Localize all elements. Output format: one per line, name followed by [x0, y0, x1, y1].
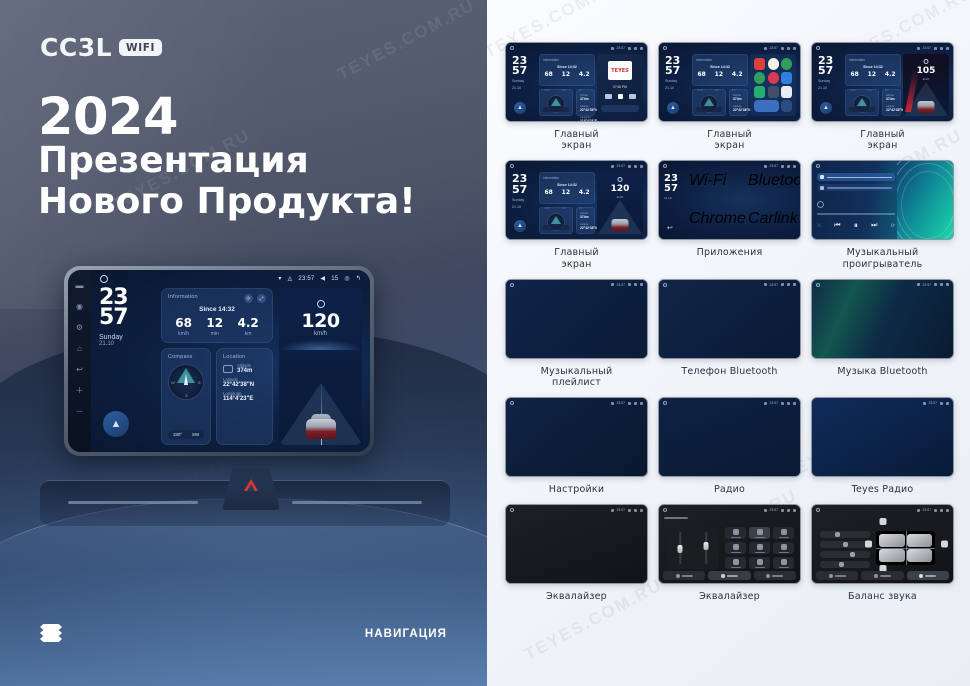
screenshot-grid-panel: TEYES.COM.RU TEYES.COM.RU TEYES.COM.RU T… — [487, 0, 970, 686]
app-icon-bluetooth[interactable]: Bluetooth — [748, 172, 801, 208]
app-shortcut-icon[interactable] — [754, 72, 765, 84]
app-drawer[interactable]: Wi-Fi Bluetooth Bluetooth Music Calculat… — [689, 172, 795, 234]
information-since: Since 14:32 — [693, 65, 747, 69]
preset-pad[interactable] — [773, 542, 794, 554]
trip-stat: 4.2 km — [238, 317, 259, 337]
stat-unit: km/h — [175, 331, 192, 337]
preset-pad[interactable] — [773, 527, 794, 539]
settings-icon[interactable]: ⚙ — [76, 324, 83, 332]
hardware-button-rail[interactable]: ▬ ◉ ⚙ ⌂ ↩ ＋ － — [68, 270, 91, 452]
altitude-value: 374m — [237, 368, 252, 374]
grid-cell[interactable]: 23:57 — [811, 504, 954, 602]
status-bar: 23:57 — [611, 401, 644, 405]
status-time: 23:57 — [298, 276, 314, 282]
screenshot-equalizer[interactable]: 23:57 — [505, 504, 648, 584]
stat-value: 12 — [562, 190, 570, 196]
drive-view-card[interactable]: 120 km/h — [279, 288, 362, 445]
latitude-value: 22°42'38"N — [886, 108, 900, 112]
location-card[interactable]: Altitude 374m Latitude 22°42'38"N Longit… — [576, 89, 595, 116]
volume-level: 15 — [331, 276, 338, 282]
app-shortcut-icon[interactable] — [768, 58, 779, 70]
compass-readout: 180° SW — [168, 430, 204, 439]
sound-faders[interactable] — [667, 527, 719, 569]
stat-value: 4.2 — [579, 190, 590, 196]
hero-panel: TEYES.COM.RU TEYES.COM.RU TEYES.COM.RU C… — [0, 0, 487, 686]
status-bar: 23:57 — [764, 401, 797, 405]
screenshot-apps[interactable]: 23:57 23 57 21.10 ↩ Wi-Fi Bluetooth Blue… — [658, 160, 801, 240]
screen-home-icon[interactable] — [100, 275, 108, 283]
compass-mark-e: E — [198, 380, 201, 385]
compass-needle-icon — [184, 374, 188, 385]
location-card[interactable]: Altitude 374m Latitude 22°42'38"N — [729, 89, 748, 116]
volume-down-icon[interactable]: － — [76, 408, 84, 416]
stat-value: 4.2 — [732, 72, 743, 78]
screenshot-home-player[interactable]: 23:57 23 57 Sunday 21.10 ▲ Information S… — [505, 42, 648, 122]
speed-unit: km/h — [597, 195, 643, 199]
car-graphic — [918, 101, 935, 113]
app-shortcut-icon[interactable] — [781, 86, 792, 98]
app-icon-wifi[interactable]: Wi-Fi — [689, 172, 746, 208]
clock-minutes: 57 — [664, 184, 678, 193]
logo-text: CC3L — [40, 33, 112, 62]
compass-mark-w: W — [171, 380, 175, 385]
location-card[interactable]: Altitude 374m Latitude 22°42'38"N — [576, 207, 595, 234]
track-row[interactable] — [817, 184, 895, 191]
status-time: 23:57 — [770, 401, 779, 405]
balance-left-button[interactable] — [865, 541, 872, 548]
speed-value: 120 — [597, 184, 643, 194]
app-shortcut-icon[interactable] — [754, 86, 765, 98]
compass-cone-icon — [551, 216, 561, 224]
information-since: Since 14:32 — [846, 65, 900, 69]
information-actions[interactable]: ⟳ ⤢ — [244, 294, 266, 303]
status-bar: ▾ ◬ 23:57 ◀ 15 ◎ ↰ — [278, 275, 361, 282]
stat-value: 68 — [175, 317, 192, 329]
latitude-value: 22°42'38"N — [580, 226, 594, 230]
horizon-glow — [279, 336, 362, 350]
status-bar: 23:57 — [764, 46, 797, 50]
app-shortcut-icon[interactable] — [768, 86, 779, 98]
information-since: Since 14:32 — [540, 183, 594, 187]
stat-value: 12 — [715, 72, 723, 78]
next-icon[interactable] — [629, 94, 636, 99]
longitude-value: 114°4'23"E — [223, 396, 266, 402]
status-bar: 23:57 — [917, 46, 950, 50]
power-icon[interactable]: ▬ — [76, 282, 84, 290]
preset-pad[interactable] — [725, 527, 746, 539]
clock-date: 21.10 — [664, 196, 678, 200]
screen-home-icon — [663, 283, 667, 287]
grid-cell[interactable]: 23:57 ⤫ — [811, 160, 954, 269]
information-since: Since 14:32 — [168, 306, 266, 313]
repeat-icon[interactable]: ⟳ — [891, 223, 895, 229]
clock-date: 21.10 — [512, 205, 527, 209]
gps-icon: ◎ — [344, 275, 349, 282]
trip-stat: 68 km/h — [175, 317, 192, 337]
compass-readout — [696, 107, 722, 112]
wifi-icon: ▾ — [278, 275, 281, 282]
altitude-value: 374m — [886, 97, 900, 101]
clock-widget: 23 57 Sunday 21.10 ▲ — [99, 288, 155, 445]
layers-icon — [40, 624, 62, 642]
balance-right-button[interactable] — [941, 541, 948, 548]
shuffle-icon[interactable]: ⤫ — [817, 223, 821, 229]
altitude-value: 374m — [580, 215, 594, 219]
screenshot-teyes-radio[interactable]: 23:57 TEYES — [811, 397, 954, 477]
compass-card[interactable]: Compass W E S — [161, 348, 211, 445]
speaker-rear-left[interactable] — [879, 549, 905, 562]
equalizer-tabs[interactable] — [663, 571, 796, 580]
status-time: 23:57 — [923, 46, 932, 50]
compass-mark-s: S — [185, 393, 188, 398]
screenshot-home-warning[interactable]: 23:57 23 57 Sunday 21.10 ▲ Information S… — [811, 42, 954, 122]
clock-minutes: 57 — [818, 66, 833, 76]
clock-minutes: 57 — [512, 66, 527, 76]
latitude-value: 22°42'38"N — [580, 108, 594, 112]
back-icon[interactable]: ↩ — [667, 224, 673, 232]
status-time: 23:57 — [923, 283, 932, 287]
headline-line-1: Презентация — [38, 140, 416, 181]
player-time: 07:50 PM — [601, 85, 639, 89]
preset-pad[interactable] — [773, 557, 794, 569]
clock-widget: 23 57 21.10 — [664, 174, 678, 199]
app-shortcut-icon[interactable] — [768, 72, 779, 84]
cell-caption: Teyes Радио — [852, 484, 914, 495]
visualizer — [897, 161, 953, 239]
status-time: 23:57 — [617, 164, 626, 168]
drive-view-widget[interactable]: 120 km/h — [597, 172, 643, 234]
album-art: TEYES — [608, 61, 632, 80]
compass-cone-icon — [857, 98, 867, 106]
information-card[interactable]: Information Since 14:32 68km/h 12min 4.2… — [539, 172, 595, 204]
compass-readout — [543, 107, 569, 112]
speaker-front-right[interactable] — [907, 534, 933, 547]
navigation-arrow-icon[interactable]: ▲ — [103, 411, 129, 437]
product-logo: CC3L WIFI — [40, 33, 162, 62]
logo-wifi-badge: WIFI — [119, 39, 162, 56]
clock-day: Sunday — [512, 198, 527, 202]
navigation-arrow-icon[interactable]: ▲ — [514, 102, 526, 114]
navigation-arrow-icon[interactable]: ▲ — [820, 102, 832, 114]
head-unit: ▬ ◉ ⚙ ⌂ ↩ ＋ － ▾ ◬ 23:57 — [64, 266, 374, 456]
grid-cell[interactable]: 23:57 1 2 3 — [658, 279, 801, 388]
clock-minutes: 57 — [512, 185, 527, 195]
compass-direction: SW — [192, 432, 199, 437]
speed-value: 120 — [279, 310, 362, 332]
hero-year: 2024 — [38, 88, 178, 147]
cell-caption: Телефон Bluetooth — [681, 366, 777, 377]
clock-date: 21.10 — [512, 86, 527, 90]
screenshot-home-apps[interactable]: 23:57 23 57 Sunday 21.10 ▲ Information S… — [658, 42, 801, 122]
screenshot-bluetooth-phone[interactable]: 23:57 1 2 3 — [658, 279, 801, 359]
grid-cell[interactable]: 23:57 Радио FM ‹ 102.40 › M T D L P R — [658, 397, 801, 495]
information-title: Information — [543, 176, 594, 180]
grid-cell[interactable]: 23:57 ᛒBluetooth 5.1 Feels Like Summer C… — [811, 279, 954, 388]
status-time: 23:57 — [617, 283, 626, 287]
status-time: 23:57 — [617, 401, 626, 405]
stat-value: 68 — [850, 72, 858, 78]
status-bar: 23:57 — [611, 164, 644, 168]
compass-readout — [849, 107, 875, 112]
car-graphic — [306, 409, 336, 439]
slider[interactable] — [820, 561, 870, 568]
trip-stats: 68 km/h 12 min 4.2 — [168, 317, 266, 337]
footer-label: НАВИГАЦИЯ — [365, 628, 447, 640]
location-title: Location — [223, 354, 266, 360]
now-playing-list[interactable]: ⤫ ⏮ ⏸ ⏭ ⟳ — [817, 173, 895, 208]
speaker-rear-right[interactable] — [907, 549, 933, 562]
prev-icon[interactable] — [605, 94, 612, 99]
altitude-value: 374m — [733, 97, 747, 101]
information-card[interactable]: Information Since 14:32 68km/h 12min 4.2… — [539, 54, 595, 86]
home-icon[interactable]: ⌂ — [77, 345, 82, 353]
tab-sound-field[interactable] — [861, 571, 903, 580]
equalizer-tabs[interactable] — [816, 571, 949, 580]
compass-dial: W E S — [168, 364, 204, 400]
stat-value: 4.2 — [579, 72, 590, 78]
status-bar: 23:57 — [611, 508, 644, 512]
grid-cell[interactable]: 23:57 23 57 Sunday 21.10 ▲ Information S… — [505, 42, 648, 151]
track-row-active[interactable] — [817, 173, 895, 181]
headline-line-2: Нового Продукта! — [38, 181, 416, 222]
widget-column: Information ⟳ ⤢ Since 14:32 68 — [161, 288, 273, 445]
information-card[interactable]: Information Since 14:32 68km/h 12min 4.2… — [845, 54, 901, 86]
stat-value: 68 — [544, 72, 552, 78]
speed-limit-icon — [317, 300, 325, 308]
screen-home-icon — [816, 283, 820, 287]
altitude-value: 374m — [580, 97, 594, 101]
compass-cone-icon — [704, 98, 714, 106]
preset-pad[interactable] — [749, 542, 770, 554]
information-title: Information — [543, 58, 594, 62]
screen-home-icon — [510, 46, 514, 50]
status-time: 23:57 — [929, 401, 938, 405]
screen-body: 23 57 Sunday 21.10 ▲ Information — [99, 288, 362, 445]
tab-eq[interactable] — [816, 571, 858, 580]
latitude-value: 22°42'38"N — [223, 382, 266, 388]
stat-value: 68 — [697, 72, 705, 78]
next-icon[interactable]: ⏭ — [871, 222, 877, 230]
grid-cell[interactable]: 23:57 — [658, 504, 801, 602]
screen-home-icon — [510, 283, 514, 287]
stat-unit: km — [238, 331, 259, 337]
compass-card[interactable] — [539, 89, 573, 116]
app-shortcut-icon[interactable] — [781, 72, 792, 84]
screenshot-music-player[interactable]: 23:57 ⤫ — [811, 160, 954, 240]
grid-cell[interactable]: 23:57 23 57 Sunday 21.10 ▲ Information S… — [811, 42, 954, 151]
speed-unit: km/h — [279, 331, 362, 337]
clock-day: Sunday — [512, 79, 527, 83]
information-title: Information — [849, 58, 900, 62]
balance-sliders[interactable] — [820, 529, 870, 569]
grid-cell[interactable]: 23:57 23 57 21.10 ↩ Wi-Fi Bluetooth Blue… — [658, 160, 801, 269]
drive-view-widget[interactable]: 105 km/h — [903, 54, 949, 116]
status-bar: 23:57 — [611, 46, 644, 50]
cell-caption: Музыкальный плейлист — [541, 366, 613, 388]
seek-bar[interactable] — [817, 213, 895, 215]
clock-day: Sunday — [99, 334, 155, 341]
cell-caption: Главный экран — [554, 129, 599, 151]
app-icon-chrome[interactable]: Chrome — [689, 210, 746, 240]
preset-pad[interactable] — [725, 557, 746, 569]
screenshot-playlist[interactable]: 23:57 — [505, 279, 648, 359]
stat-value: 12 — [562, 72, 570, 78]
stat-value: 12 — [206, 317, 223, 329]
fader[interactable] — [676, 532, 684, 564]
cell-caption: Главный экран — [707, 129, 752, 151]
stat-value: 4.2 — [885, 72, 896, 78]
grid-cell[interactable]: 23:57 23 57 Sunday 21.10 ▲ Information S… — [658, 42, 801, 151]
album-art-label: TEYES — [611, 68, 628, 74]
app-shortcut-icon[interactable] — [754, 58, 765, 70]
screenshot-radio[interactable]: 23:57 Радио FM ‹ 102.40 › M T D L P R — [658, 397, 801, 477]
clock-minutes: 57 — [665, 66, 680, 76]
lower-widgets: Compass W E S — [161, 348, 273, 445]
grid-cell[interactable]: 23:57 TEYES Teye — [811, 397, 954, 495]
clock-date: 21.10 — [665, 86, 680, 90]
speed-unit: km/h — [903, 77, 949, 81]
location-card[interactable]: Location Altitude 374m — [216, 348, 273, 445]
location-card[interactable]: Altitude 374m Latitude 22°42'38"N — [882, 89, 901, 116]
latitude-row: Latitude 22°42'38"N — [223, 377, 266, 388]
trip-stat: 12 min — [206, 317, 223, 337]
clock-day: Sunday — [665, 79, 680, 83]
head-unit-screen[interactable]: ▾ ◬ 23:57 ◀ 15 ◎ ↰ 23 57 S — [91, 270, 370, 452]
slider[interactable] — [820, 531, 870, 538]
app-shortcuts-widget[interactable] — [750, 54, 796, 116]
app-icon-carlink[interactable]: Carlink — [748, 210, 801, 240]
volume-up-icon[interactable]: ＋ — [76, 387, 84, 395]
altitude-row: Altitude 374m — [223, 363, 266, 374]
tab-eq[interactable] — [663, 571, 705, 580]
fader-front-button[interactable] — [879, 518, 886, 525]
status-time: 23:57 — [617, 46, 626, 50]
navigation-arrow-icon[interactable]: ▲ — [667, 102, 679, 114]
longitude-value: 114°4'23"E — [580, 119, 594, 122]
cell-caption: Эквалайзер — [546, 591, 607, 602]
app-shortcut-icon[interactable] — [754, 100, 779, 112]
screenshot-bluetooth-music[interactable]: 23:57 ᛒBluetooth 5.1 Feels Like Summer C… — [811, 279, 954, 359]
clock-widget: 23 57 Sunday 21.10 — [512, 56, 527, 90]
speaker-front-left[interactable] — [879, 534, 905, 547]
car-graphic — [612, 219, 629, 231]
cell-caption: Радио — [714, 484, 745, 495]
cell-caption: Приложения — [697, 247, 763, 258]
screenshot-equalizer-sound-field[interactable]: 23:57 — [658, 504, 801, 584]
transport-controls[interactable]: ⤫ ⏮ ⏸ ⏭ ⟳ — [817, 221, 895, 231]
stat-value: 4.2 — [238, 317, 259, 329]
stop-icon[interactable] — [618, 94, 623, 99]
app-shortcut-icon[interactable] — [781, 100, 792, 112]
music-widget[interactable]: TEYES 07:50 PM — [597, 54, 643, 116]
tab-balance[interactable] — [754, 571, 796, 580]
refresh-icon[interactable]: ⟳ — [244, 294, 253, 303]
compass-title: Compass — [168, 354, 204, 360]
repeat-icon[interactable] — [817, 201, 824, 208]
preset-pad[interactable] — [725, 542, 746, 554]
screenshot-settings[interactable]: 23:57 ☁Wi-Fi ▣CarBit Carplay ⋯More — [505, 397, 648, 477]
preset-pad[interactable] — [749, 527, 770, 539]
information-card[interactable]: Information ⟳ ⤢ Since 14:32 68 — [161, 288, 273, 343]
hero-headline: Презентация Нового Продукта! — [38, 140, 416, 222]
information-card[interactable]: Information Since 14:32 68km/h 12min 4.2… — [692, 54, 748, 86]
cell-caption: Музыка Bluetooth — [837, 366, 927, 377]
screenshot-home-road[interactable]: 23:57 23 57 Sunday 21.10 ▲ Information S… — [505, 160, 648, 240]
sound-preset-pads[interactable] — [725, 527, 794, 569]
fader[interactable] — [702, 532, 710, 564]
mountain-icon — [223, 365, 233, 373]
status-bar: 23:57 — [917, 283, 950, 287]
compass-card[interactable] — [539, 207, 573, 234]
tab-sound-field[interactable] — [708, 571, 750, 580]
information-since: Since 14:32 — [540, 65, 594, 69]
status-bar: 23:57 — [764, 283, 797, 287]
status-time: 23:57 — [770, 283, 779, 287]
compass-card[interactable] — [692, 89, 726, 116]
status-time: 23:57 — [770, 164, 779, 168]
clock-minutes: 57 — [99, 308, 155, 328]
back-icon[interactable]: ↩ — [76, 366, 83, 374]
head-unit-inner: ▬ ◉ ⚙ ⌂ ↩ ＋ － ▾ ◬ 23:57 — [68, 270, 370, 452]
cell-caption: Настройки — [549, 484, 604, 495]
compass-heading: 180° — [173, 432, 182, 437]
grid-cell[interactable]: 23:57 — [505, 504, 648, 602]
compass-readout — [543, 225, 569, 230]
prev-icon[interactable]: ⏮ — [834, 222, 840, 230]
compass-cone-icon — [551, 98, 561, 106]
status-time: 23:57 — [617, 508, 626, 512]
cell-caption: Музыкальный проигрыватель — [843, 247, 923, 269]
grid-cell[interactable]: 23:57 23 57 Sunday 21.10 ▲ Information S… — [505, 160, 648, 269]
speaker-stage[interactable] — [876, 531, 935, 565]
presentation-slide: TEYES.COM.RU TEYES.COM.RU TEYES.COM.RU C… — [0, 0, 970, 686]
stat-value: 12 — [868, 72, 876, 78]
slider[interactable] — [820, 551, 870, 558]
cell-caption: Баланс звука — [848, 591, 917, 602]
stat-value: 68 — [544, 190, 552, 196]
volume-icon: ◀ — [320, 275, 325, 282]
grid-cell[interactable]: 23:57 — [505, 279, 648, 388]
compass-card[interactable] — [845, 89, 879, 116]
cell-caption: Эквалайзер — [699, 591, 760, 602]
clock-widget: 23 57 Sunday 21.10 — [665, 56, 680, 90]
preset-pad[interactable] — [749, 557, 770, 569]
player-toolbar[interactable] — [601, 105, 639, 112]
speed-limit-icon — [924, 59, 929, 64]
expand-icon[interactable]: ⤢ — [257, 294, 266, 303]
cell-caption: Главный экран — [554, 247, 599, 269]
dashboard-photo: ▬ ◉ ⚙ ⌂ ↩ ＋ － ▾ ◬ 23:57 — [0, 266, 487, 686]
app-shortcut-icon[interactable] — [781, 58, 792, 70]
back-arrow-icon[interactable]: ↰ — [356, 275, 361, 282]
status-bar: 23:57 — [923, 401, 950, 405]
pause-icon[interactable]: ⏸ — [854, 221, 858, 231]
cell-caption: Главный экран — [860, 129, 905, 151]
screenshot-sound-balance[interactable]: 23:57 — [811, 504, 954, 584]
grid-cell[interactable]: 23:57 ☁Wi-Fi ▣CarBit Carplay ⋯More — [505, 397, 648, 495]
status-bar: 23:57 — [764, 164, 797, 168]
hazard-triangle-inner-icon — [247, 484, 255, 491]
speed-value: 105 — [903, 66, 949, 76]
watermark: TEYES.COM.RU — [334, 0, 479, 85]
clock-date: 21.10 — [818, 86, 833, 90]
screen-home-icon — [816, 46, 820, 50]
latitude-value: 22°42'38"N — [733, 108, 747, 112]
mute-icon[interactable]: ◉ — [76, 303, 83, 311]
tab-balance[interactable] — [907, 571, 949, 580]
slider[interactable] — [820, 541, 870, 548]
screen-home-icon — [663, 46, 667, 50]
